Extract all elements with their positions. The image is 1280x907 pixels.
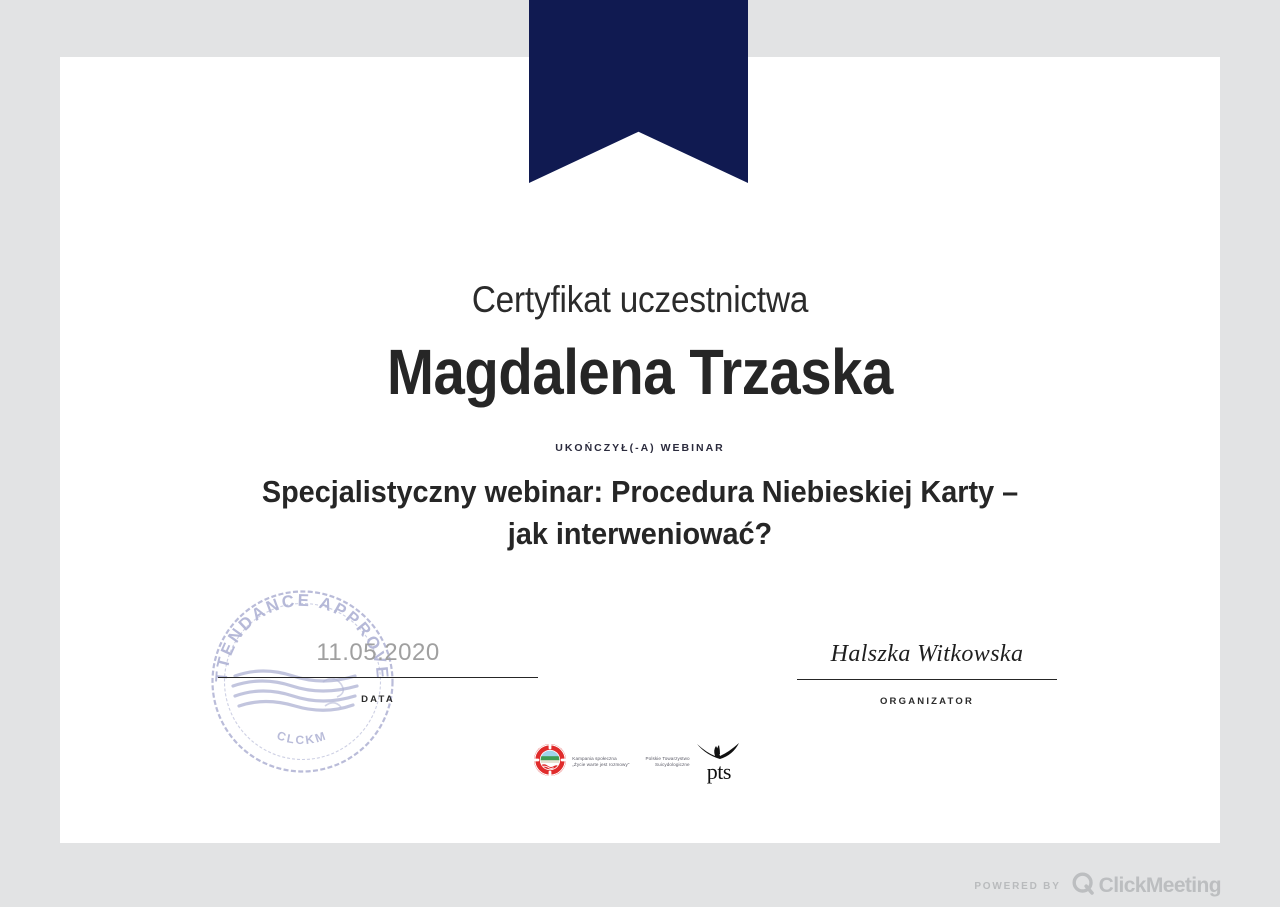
organizer-caption: ORGANIZATOR [797,696,1057,707]
certificate-card: Certyfikat uczestnictwa Magdalena Trzask… [60,57,1220,843]
clickmeeting-mark-icon [1072,872,1095,900]
organizer-signature: Halszka Witkowska [797,637,1057,671]
clickmeeting-wordmark: ClickMeeting [1099,874,1221,898]
organizer-block: Halszka Witkowska ORGANIZATOR [797,637,1057,707]
organizer-rule [797,679,1057,680]
date-value: 11.05.2020 [218,637,538,669]
date-rule [218,677,538,678]
clickmeeting-logo: ClickMeeting [1072,872,1221,900]
webinar-title: Specjalistyczny webinar: Procedura Niebi… [249,471,1030,555]
pts-logo: Polskie Towarzystwo Suicydologiczne pts [646,740,747,784]
completed-webinar-label: UKOŃCZYŁ(-A) WEBINAR [60,442,1220,454]
partner-logos: Kampania społeczna „Życie warte jest roz… [480,732,800,792]
recipient-name: Magdalena Trzaska [130,335,1151,409]
pts-wordmark: pts [707,759,731,785]
page-title: Certyfikat uczestnictwa [118,279,1162,321]
pts-logo-text: Polskie Towarzystwo Suicydologiczne [646,756,690,769]
svg-text:CLCKM: CLCKM [275,728,329,747]
pts-bird-emblem-icon: pts [695,740,747,784]
kampania-spoleczna-logo-text: Kampania społeczna „Życie warte jest roz… [572,756,629,769]
date-block: 11.05.2020 DATA [218,637,538,705]
life-ring-landscape-emblem-icon [533,743,567,782]
powered-by-label: POWERED BY [974,881,1060,892]
powered-by-footer: POWERED BY ClickMeeting [974,872,1221,900]
date-caption: DATA [218,694,538,705]
kampania-spoleczna-logo: Kampania społeczna „Życie warte jest roz… [533,743,629,782]
